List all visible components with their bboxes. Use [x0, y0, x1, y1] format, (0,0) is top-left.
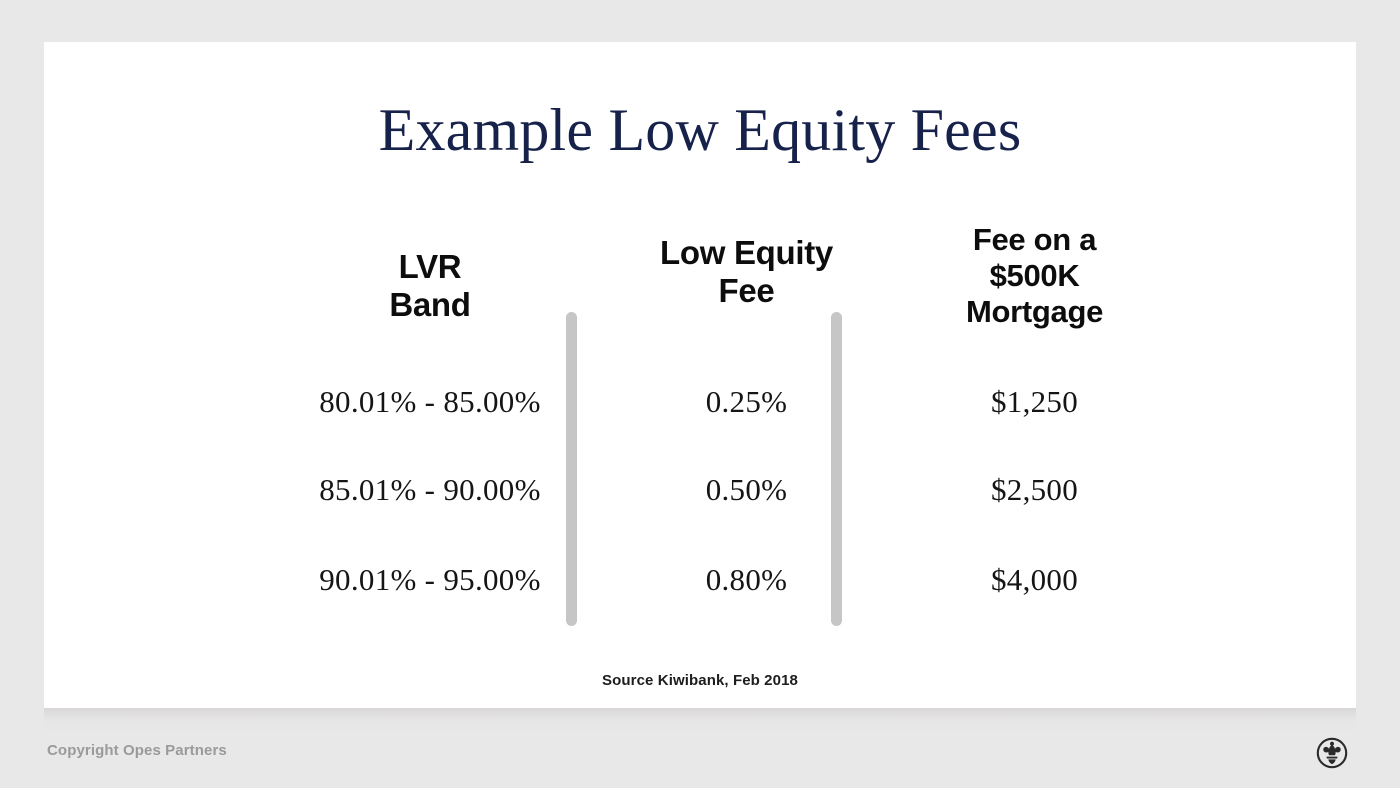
table-row: 85.01% - 90.00%	[260, 472, 600, 508]
column-header-fee-on-500k-mortgage-line-2: $500K	[882, 258, 1187, 294]
table-row: 90.01% - 95.00%	[260, 562, 600, 598]
column-header-low-equity-fee-line-1: Low Equity	[584, 234, 909, 272]
table-row: $4,000	[882, 562, 1187, 598]
column-header-fee-on-500k-mortgage-line-1: Fee on a	[882, 222, 1187, 258]
table-row: 0.50%	[584, 472, 909, 508]
fees-table: LVR Band Low Equity Fee Fee on a $500K M…	[44, 42, 1356, 708]
table-row: 80.01% - 85.00%	[260, 384, 600, 420]
column-header-lvr-band-line-2: Band	[260, 286, 600, 324]
column-header-lvr-band-line-1: LVR	[260, 248, 600, 286]
table-row: $1,250	[882, 384, 1187, 420]
column-header-low-equity-fee-line-2: Fee	[584, 272, 909, 310]
table-row: $2,500	[882, 472, 1187, 508]
slide-card: Example Low Equity Fees LVR Band Low Equ…	[44, 42, 1356, 708]
column-header-lvr-band: LVR Band	[260, 248, 600, 325]
fleur-de-lis-logo	[1312, 733, 1352, 773]
column-header-fee-on-500k-mortgage-line-3: Mortgage	[882, 294, 1187, 330]
table-row: 0.25%	[584, 384, 909, 420]
source-note: Source Kiwibank, Feb 2018	[44, 672, 1356, 689]
footer-copyright: Copyright Opes Partners	[47, 742, 227, 759]
column-header-low-equity-fee: Low Equity Fee	[584, 234, 909, 311]
table-row: 0.80%	[584, 562, 909, 598]
column-header-fee-on-500k-mortgage: Fee on a $500K Mortgage	[882, 222, 1187, 330]
slide-drop-shadow	[44, 708, 1356, 734]
